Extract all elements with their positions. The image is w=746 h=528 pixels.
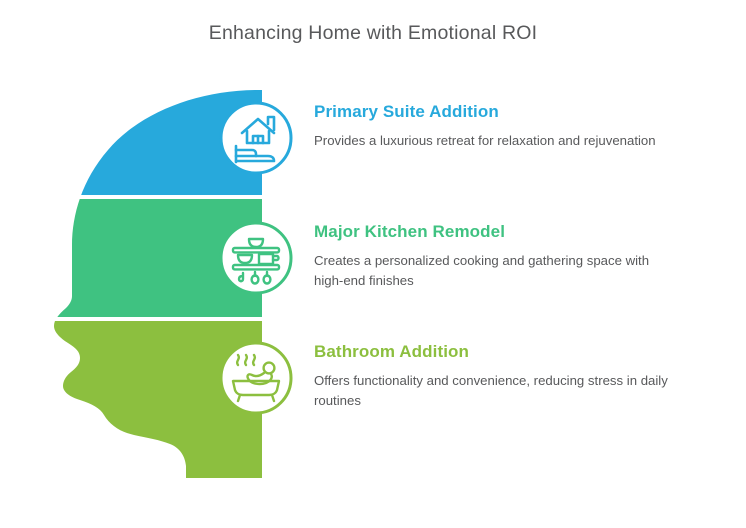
- bathtub-icon: [218, 340, 294, 416]
- item-title: Major Kitchen Remodel: [314, 222, 714, 242]
- list-item: Primary Suite Addition Provides a luxuri…: [314, 102, 714, 151]
- item-description: Provides a luxurious retreat for relaxat…: [314, 131, 674, 151]
- infographic-root: Enhancing Home with Emotional ROI: [0, 0, 746, 528]
- item-description: Creates a personalized cooking and gathe…: [314, 251, 674, 292]
- item-title: Primary Suite Addition: [314, 102, 714, 122]
- item-title: Bathroom Addition: [314, 342, 714, 362]
- list-item: Major Kitchen Remodel Creates a personal…: [314, 222, 714, 292]
- page-title: Enhancing Home with Emotional ROI: [0, 22, 746, 45]
- item-description: Offers functionality and convenience, re…: [314, 371, 674, 412]
- house-bed-icon: [218, 100, 294, 176]
- list-item: Bathroom Addition Offers functionality a…: [314, 342, 714, 412]
- kitchen-shelf-icon: [218, 220, 294, 296]
